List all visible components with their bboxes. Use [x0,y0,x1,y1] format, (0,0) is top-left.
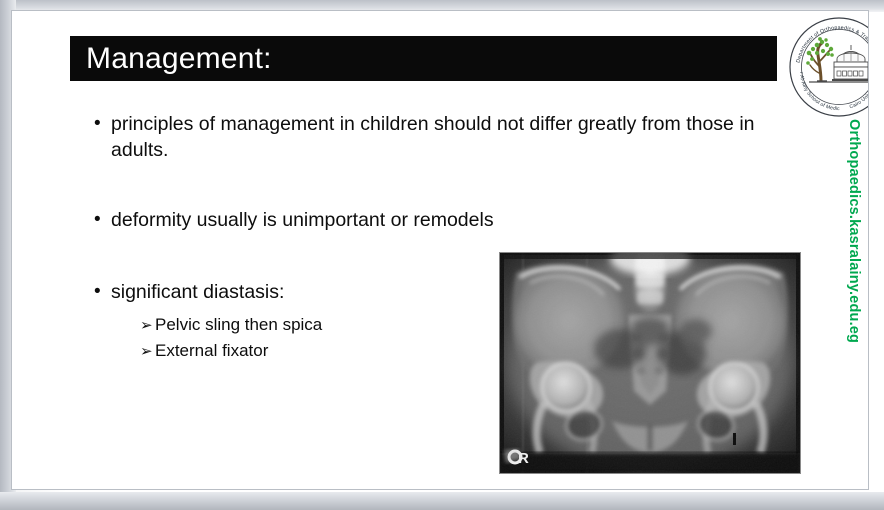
bullet-item-2: • deformity usually is unimportant or re… [94,207,814,233]
arrow-bullet-icon: ➢ [140,339,155,364]
sub-bullet-text: Pelvic sling then spica [155,315,322,334]
bullet-text: principles of management in children sho… [111,111,814,163]
sub-bullet-text: External fixator [155,341,268,360]
bullet-item-1: • principles of management in children s… [94,111,814,163]
viewer-bottom-shade [0,492,884,510]
bullet-text: deformity usually is unimportant or remo… [111,207,814,233]
page-title: Management: [86,39,272,79]
spacer-1 [94,163,814,207]
bullet-marker-icon: • [94,207,101,233]
bullet-marker-icon: • [94,111,101,137]
website-url-vertical: Orthopaedics.kasralainy.edu.eg [843,119,865,334]
department-logo: Department of Orthopaedics & Traumatolog… [787,15,868,119]
presentation-slide: Management: • principles of management i… [12,11,868,489]
slide-title-bar: Management: [70,36,777,81]
pelvis-xray-image: R [500,253,800,473]
arrow-bullet-icon: ➢ [140,313,155,338]
bullet-marker-icon: • [94,279,101,305]
slide-viewer: Management: • principles of management i… [0,0,884,510]
